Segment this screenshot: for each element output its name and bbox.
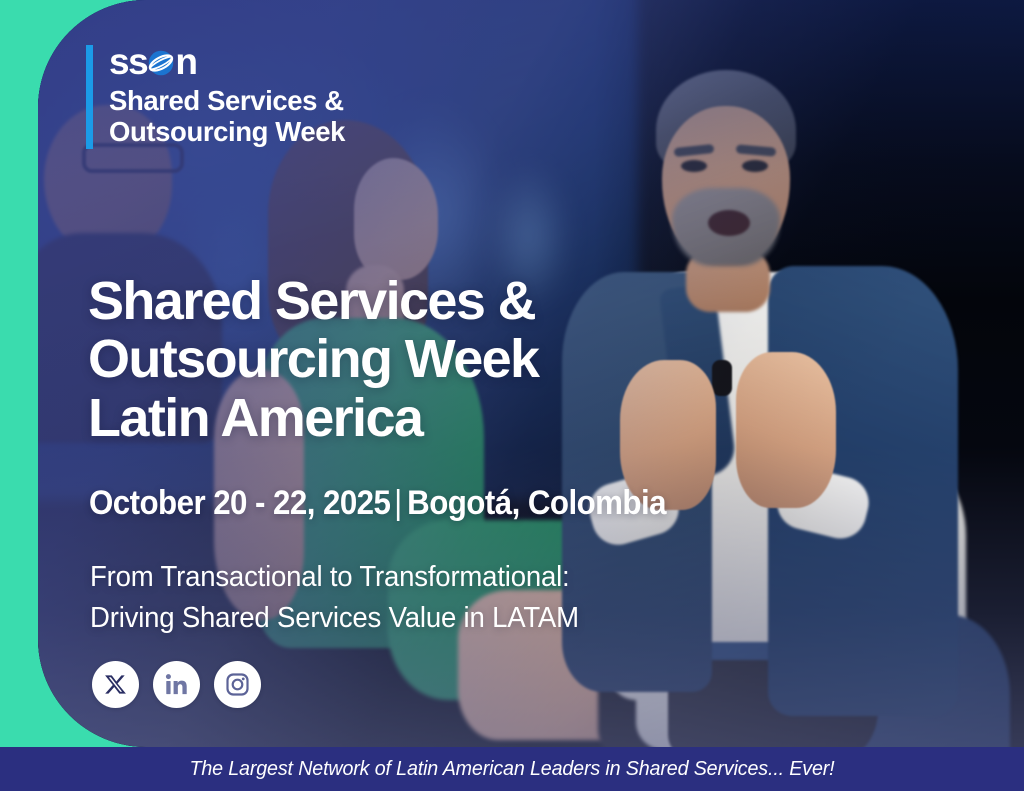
x-twitter-icon[interactable] [92,661,139,708]
social-links [92,661,261,708]
headline-line-3: Latin America [88,389,539,447]
event-headline: Shared Services & Outsourcing Week Latin… [88,272,539,447]
headline-line-1: Shared Services & [88,272,539,330]
event-location: Bogotá, Colombia [407,484,666,522]
logo-text-column: ss n Shared Services & Outsourcing Week [109,42,345,148]
instagram-icon[interactable] [214,661,261,708]
logo-accent-bar [86,45,93,149]
sson-wordmark-prefix: ss [109,43,147,80]
event-separator: | [390,484,407,522]
sson-logo-lockup[interactable]: ss n Shared Services & Outsourcing Week [86,42,345,149]
banner-content: ss n Shared Services & Outsourcing Week … [0,0,1024,791]
sson-globe-icon [147,47,175,75]
headline-line-2: Outsourcing Week [88,330,539,388]
tagline-line-1: From Transactional to Transformational: [90,557,579,598]
logo-subtitle-line1: Shared Services & [109,85,344,116]
event-tagline: From Transactional to Transformational: … [90,557,579,639]
event-dates: October 20 - 22, 2025 [89,484,390,522]
sson-wordmark: ss n [109,42,345,80]
event-date-location: October 20 - 22, 2025|Bogotá, Colombia [89,484,666,523]
logo-subtitle: Shared Services & Outsourcing Week [109,86,345,148]
logo-subtitle-line2: Outsourcing Week [109,116,345,147]
footer-bar: The Largest Network of Latin American Le… [0,747,1024,791]
footer-tagline: The Largest Network of Latin American Le… [189,757,834,781]
event-promo-banner: ss n Shared Services & Outsourcing Week … [0,0,1024,791]
linkedin-icon[interactable] [153,661,200,708]
tagline-line-2: Driving Shared Services Value in LATAM [90,598,579,639]
sson-wordmark-suffix: n [175,43,196,80]
